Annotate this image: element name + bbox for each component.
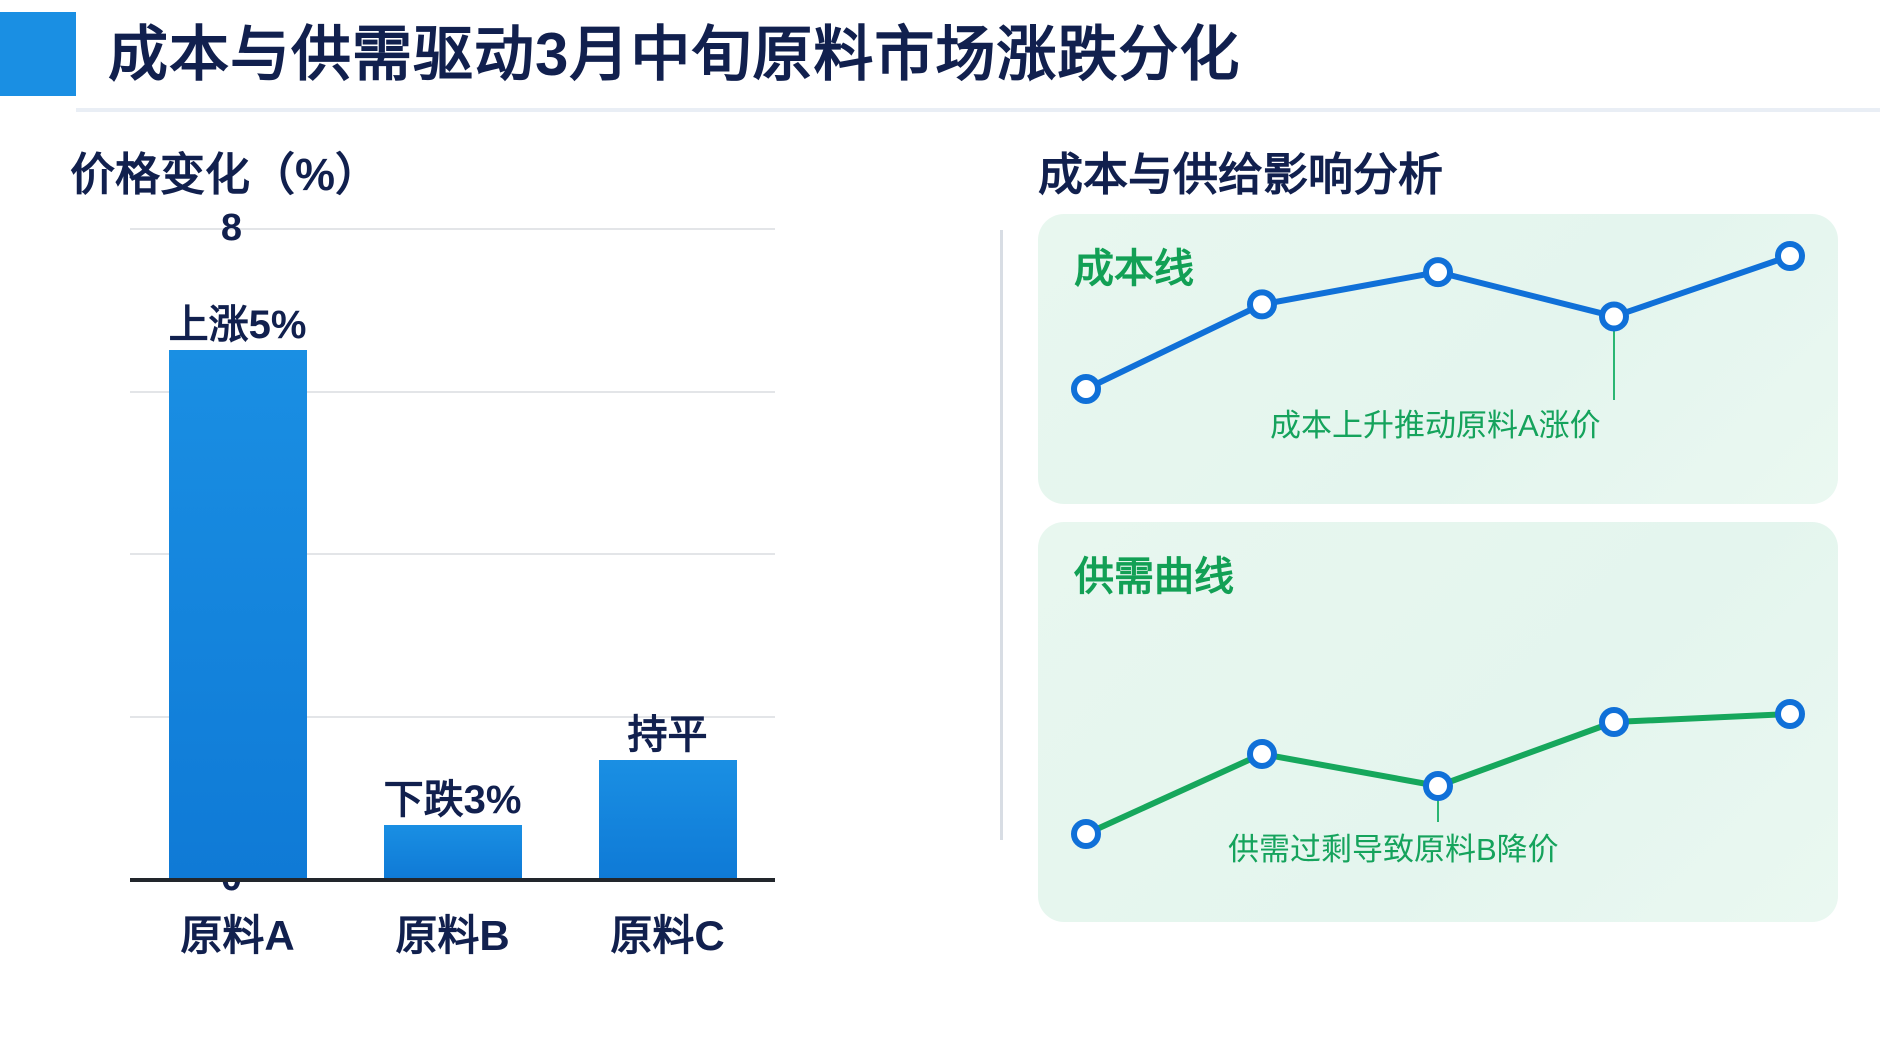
page-title: 成本与供需驱动3月中旬原料市场涨跌分化 — [108, 14, 1240, 96]
sparkline-marker[interactable] — [1074, 377, 1098, 401]
bar[interactable] — [599, 760, 737, 878]
supply-demand-annotation: 供需过剩导致原料B降价 — [1228, 824, 1559, 869]
bar-chart-x-axis-line — [130, 878, 775, 882]
cost-line-sparkline — [1038, 214, 1838, 504]
sparkline-marker[interactable] — [1074, 822, 1098, 846]
bar-chart: 02468 上涨5%下跌3%持平 原料A原料B原料C — [70, 218, 950, 1008]
sparkline-marker[interactable] — [1778, 244, 1802, 268]
y-axis-tick-label: 8 — [221, 209, 242, 247]
page-header: 成本与供需驱动3月中旬原料市场涨跌分化 — [0, 0, 1880, 118]
left-panel-title: 价格变化（%） — [70, 138, 380, 203]
cost-supply-analysis-panel: 成本与供给影响分析 成本线 成本上升推动原料A涨价 供需曲线 供需过剩导致原料B… — [1020, 118, 1880, 1057]
bar-value-label: 下跌3% — [384, 767, 522, 825]
cost-line-annotation: 成本上升推动原料A涨价 — [1270, 400, 1601, 445]
right-panel-title: 成本与供给影响分析 — [1038, 138, 1443, 203]
category-label: 原料A — [180, 902, 294, 963]
sparkline-marker[interactable] — [1426, 774, 1450, 798]
panel-divider — [1000, 230, 1003, 840]
category-label: 原料C — [610, 902, 724, 963]
bar-value-label: 上涨5% — [169, 292, 307, 350]
sparkline-marker[interactable] — [1602, 710, 1626, 734]
sparkline-marker[interactable] — [1426, 260, 1450, 284]
price-change-panel: 价格变化（%） 02468 上涨5%下跌3%持平 原料A原料B原料C — [0, 118, 1000, 1057]
sparkline-marker[interactable] — [1250, 292, 1274, 316]
category-label: 原料B — [395, 902, 509, 963]
sparkline-marker[interactable] — [1250, 742, 1274, 766]
sparkline-marker[interactable] — [1778, 702, 1802, 726]
header-accent-bar — [0, 12, 76, 96]
bar[interactable] — [384, 825, 522, 878]
cost-line-card[interactable]: 成本线 成本上升推动原料A涨价 — [1038, 214, 1838, 504]
supply-demand-card[interactable]: 供需曲线 供需过剩导致原料B降价 — [1038, 522, 1838, 922]
sparkline-marker[interactable] — [1602, 304, 1626, 328]
bar[interactable] — [169, 350, 307, 878]
header-divider-rule — [76, 108, 1880, 112]
bar-value-label: 持平 — [628, 702, 708, 760]
